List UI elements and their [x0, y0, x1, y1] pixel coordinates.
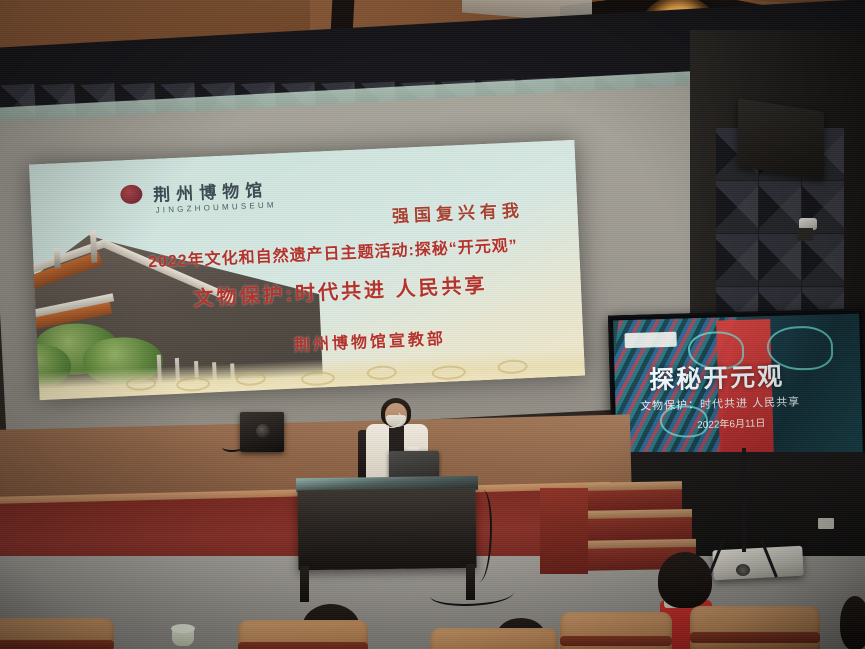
- desk-leg: [300, 566, 309, 602]
- main-projection-screen[interactable]: 荆州博物馆 JINGZHOUMUSEUM 强国复兴有我 2022年文化和自然遗产…: [29, 140, 585, 401]
- tv-title: 探秘开元观: [649, 356, 785, 396]
- tv-museum-logo: [625, 331, 677, 347]
- audience-seat[interactable]: [430, 628, 558, 649]
- auditorium-photo: 荆州博物馆 JINGZHOUMUSEUM 强国复兴有我 2022年文化和自然遗产…: [0, 0, 865, 649]
- camera-mount: [797, 228, 813, 241]
- side-tv-display[interactable]: 探秘开元观 文物保护：时代共进 人民共享 2022年6月11日: [608, 308, 865, 465]
- screen-slogan: 强国复兴有我: [391, 196, 524, 227]
- tv-date: 2022年6月11日: [697, 414, 766, 431]
- tv-subtitle: 文物保护：时代共进 人民共享: [640, 394, 800, 414]
- projector: [712, 546, 803, 581]
- wall-outlet-plate: [818, 518, 834, 529]
- tea-cup-lid: [171, 624, 195, 633]
- audience-seat-rim: [238, 642, 368, 649]
- audience-seat-rim: [0, 640, 114, 649]
- presenter-headset-mic: [382, 410, 402, 428]
- stage-side-wall: [540, 488, 588, 574]
- temple-finial: [54, 249, 61, 269]
- audience-child-head: [658, 552, 712, 608]
- speaker-cone-icon: [256, 424, 270, 438]
- presenter-desk: [297, 488, 476, 570]
- audience-head: [840, 596, 865, 649]
- audience-seat-rim: [560, 636, 672, 646]
- ceiling-speaker: [738, 98, 824, 180]
- audience-seat-rim: [690, 632, 820, 643]
- temple-finial: [90, 231, 97, 263]
- tv-surface: 探秘开元观 文物保护：时代共进 人民共享 2022年6月11日: [613, 314, 863, 461]
- screen-surface: 荆州博物馆 JINGZHOUMUSEUM 强国复兴有我 2022年文化和自然遗产…: [29, 140, 585, 401]
- projector-lens-icon: [736, 564, 750, 576]
- tripod-stand: [742, 448, 746, 552]
